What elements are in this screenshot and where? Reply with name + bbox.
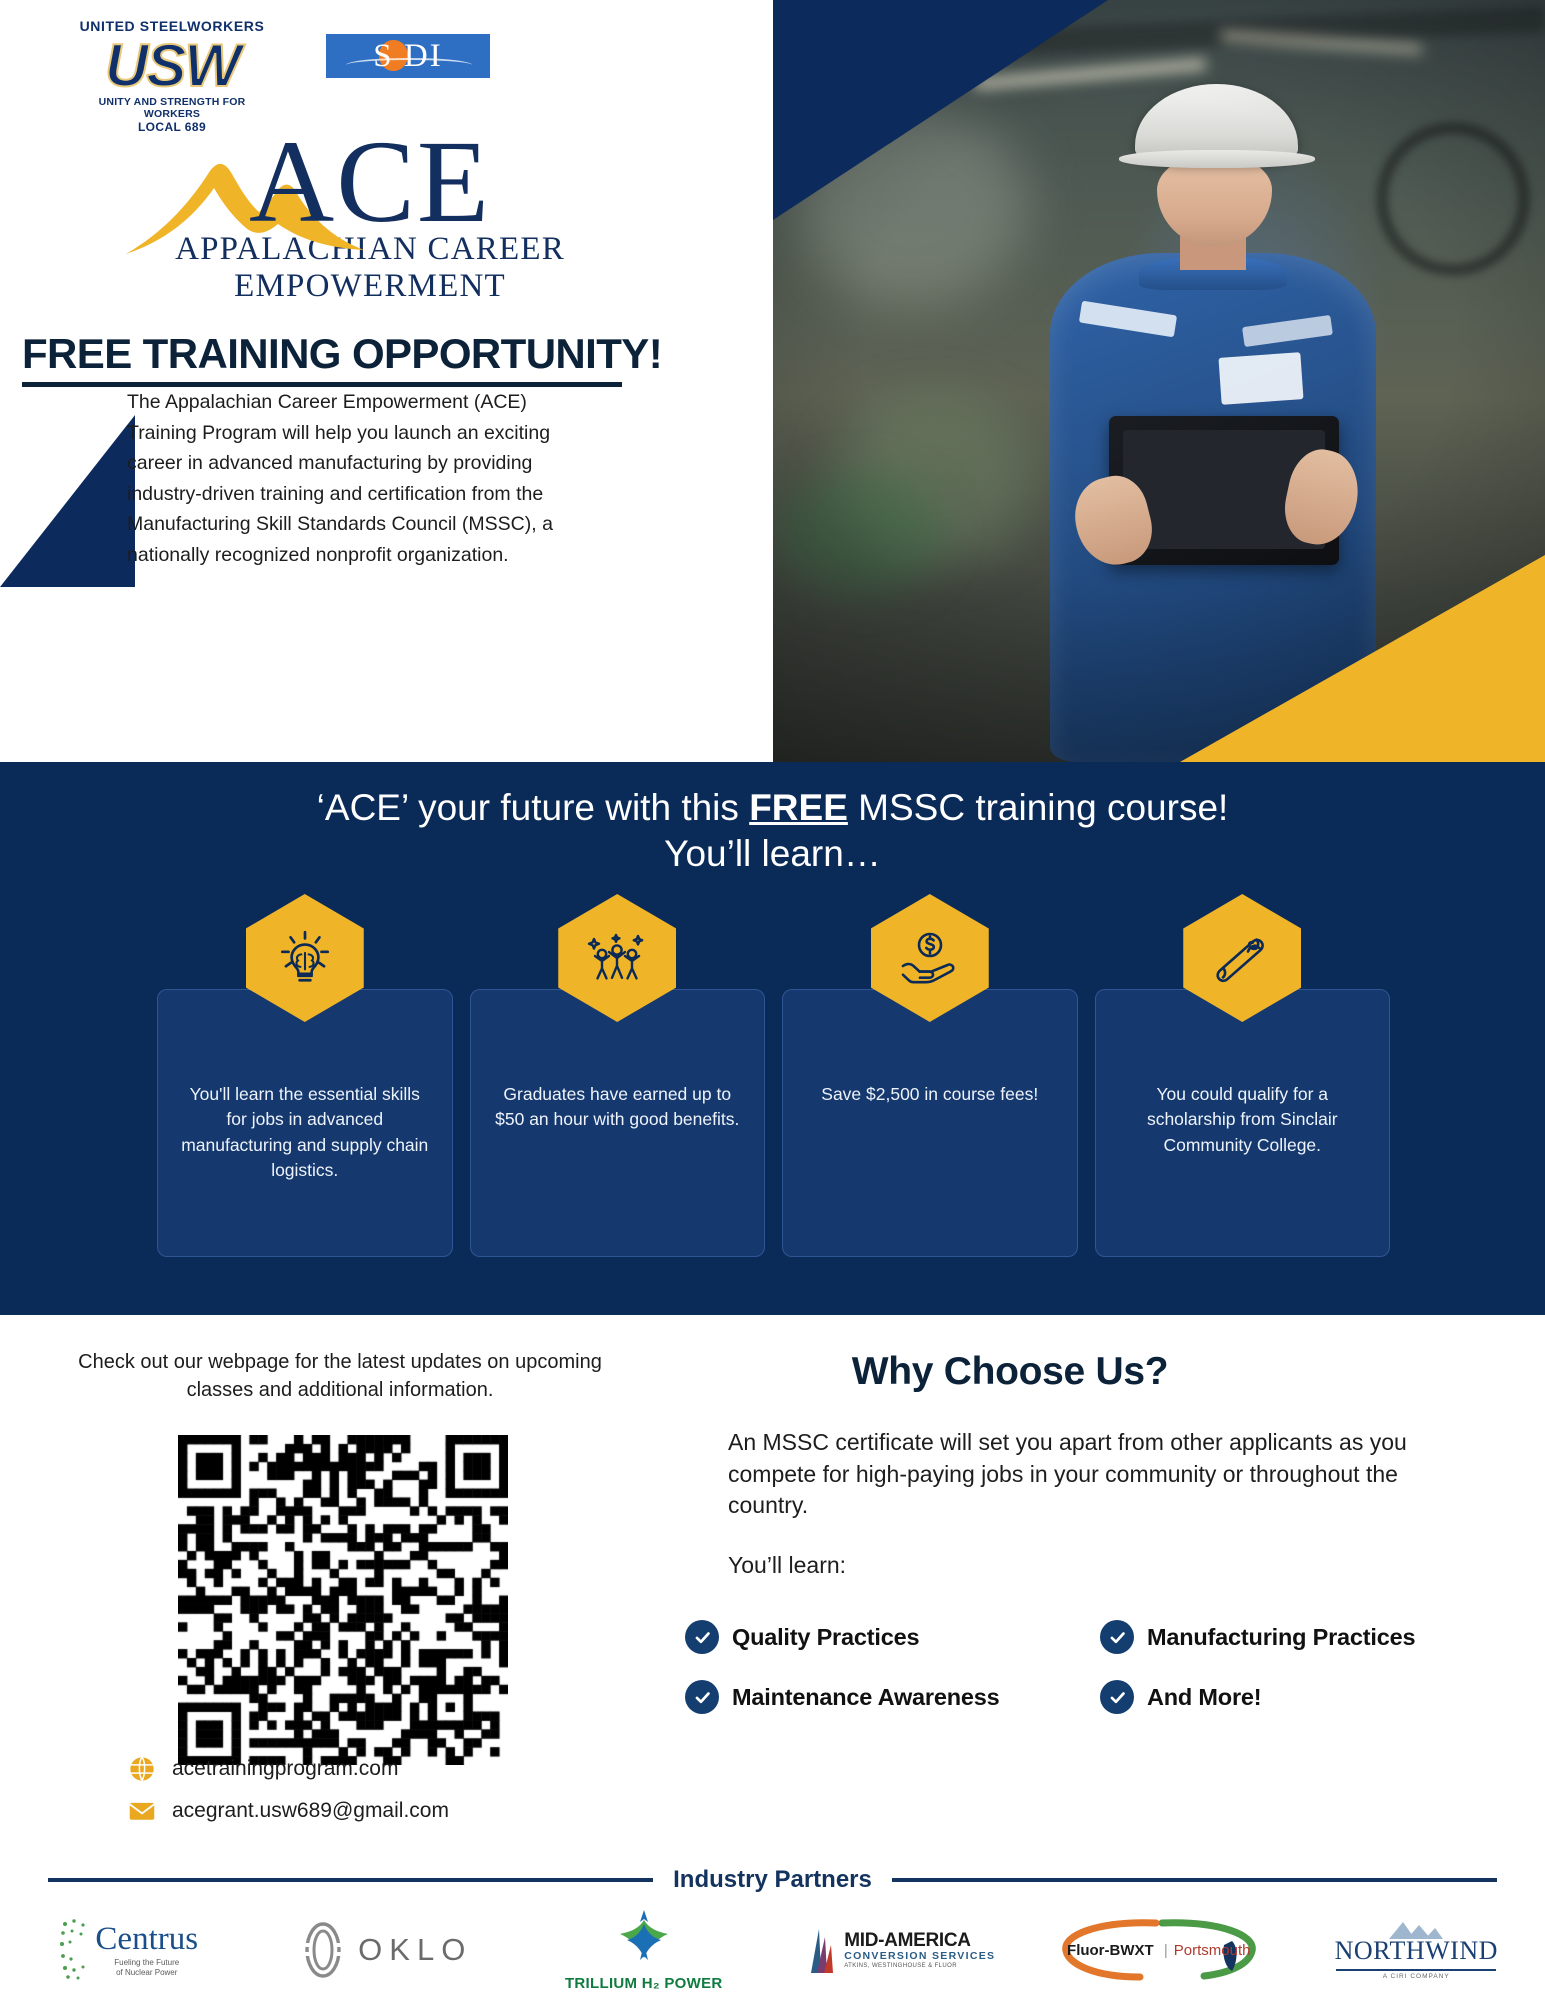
ace-logo: ACE APPALACHIAN CAREER EMPOWERMENT: [110, 128, 630, 304]
centrus-tagline-1: Fueling the Future: [95, 1958, 198, 1968]
navy-wedge-accent: [0, 415, 135, 587]
contact-list: acetrainingprogram.com acegrant.usw689@g…: [128, 1755, 449, 1839]
centrus-wordmark: Centrus: [95, 1923, 198, 1956]
benefit-card: Save $2,500 in course fees!: [782, 989, 1078, 1257]
qr-code[interactable]: [178, 1435, 508, 1765]
benefit-card-text: Graduates have earned up to $50 an hour …: [491, 1082, 745, 1133]
youll-learn-label: You’ll learn:: [728, 1552, 846, 1579]
industry-partners-title: Industry Partners: [653, 1866, 892, 1894]
partner-logos: Centrus Fueling the Future of Nuclear Po…: [0, 1900, 1545, 2000]
divider-line-left: [48, 1878, 653, 1882]
partner-logo-centrus: Centrus Fueling the Future of Nuclear Po…: [0, 1918, 258, 1982]
oklo-wordmark: OKLO: [358, 1932, 472, 1968]
benefit-card-text: You could qualify for a scholarship from…: [1116, 1082, 1370, 1158]
contact-row-email[interactable]: acegrant.usw689@gmail.com: [128, 1797, 449, 1825]
people-celebrating-icon: [558, 894, 676, 1022]
hero-section: UNITED STEELWORKERS USW UNITY AND STRENG…: [0, 0, 1545, 762]
skills-checklist: Quality Practices Manufacturing Practice…: [685, 1620, 1505, 1714]
hexagon-badge: [1183, 894, 1301, 1022]
checklist-item: And More!: [1100, 1680, 1505, 1714]
northwind-sub: A CIRI COMPANY: [1383, 1973, 1450, 1980]
benefit-cards: You'll learn the essential skills for jo…: [157, 989, 1390, 1257]
benefit-card: You'll learn the essential skills for jo…: [157, 989, 453, 1257]
centrus-tagline-2: of Nuclear Power: [95, 1968, 198, 1978]
checklist-label: Quality Practices: [732, 1624, 919, 1651]
hexagon-badge: [558, 894, 676, 1022]
northwind-rule: [1336, 1969, 1496, 1971]
checklist-label: And More!: [1147, 1684, 1261, 1711]
centrus-dots-icon: [59, 1918, 93, 1982]
band-headline-line2: You’ll learn…: [664, 833, 881, 874]
ace-subtitle-line2: EMPOWERMENT: [110, 268, 630, 305]
ace-acronym: ACE: [110, 128, 630, 237]
why-choose-us-body: An MSSC certificate will set you apart f…: [728, 1427, 1428, 1522]
trillium-wordmark: TRILLIUM H₂ POWER: [565, 1975, 723, 1992]
intro-paragraph: The Appalachian Career Empowerment (ACE)…: [127, 387, 577, 571]
mid-america-sub: CONVERSION SERVICES: [844, 1950, 995, 1964]
check-circle-icon: [1100, 1620, 1134, 1654]
check-circle-icon: [685, 1680, 719, 1714]
hexagon-badge: [246, 894, 364, 1022]
why-choose-us-title: Why Choose Us?: [700, 1350, 1320, 1394]
divider-line-right: [892, 1878, 1497, 1882]
email-text: acegrant.usw689@gmail.com: [172, 1799, 449, 1823]
webpage-note: Check out our webpage for the latest upd…: [60, 1348, 620, 1405]
band-headline-pre: ‘ACE’ your future with this: [317, 787, 750, 828]
benefit-card-text: Save $2,500 in course fees!: [803, 1082, 1057, 1107]
website-text: acetrainingprogram.com: [172, 1757, 398, 1781]
usw-logo: UNITED STEELWORKERS USW UNITY AND STRENG…: [72, 18, 272, 134]
benefit-card: Graduates have earned up to $50 an hour …: [470, 989, 766, 1257]
sodi-logo: S DI: [326, 34, 490, 78]
portsmouth-wordmark: Portsmouth: [1174, 1942, 1251, 1959]
checklist-label: Manufacturing Practices: [1147, 1624, 1415, 1651]
partner-logo-trillium: TRILLIUM H₂ POWER: [515, 1908, 773, 1992]
band-headline-post: MSSC training course!: [848, 787, 1228, 828]
sodi-swoosh-icon: [346, 58, 472, 72]
partner-logo-northwind: NORTHWIND A CIRI COMPANY: [1288, 1920, 1545, 1980]
band-headline: ‘ACE’ your future with this FREE MSSC tr…: [0, 785, 1545, 878]
oklo-mark-icon: [300, 1921, 346, 1979]
benefit-card-text: You'll learn the essential skills for jo…: [178, 1082, 432, 1184]
hexagon-badge: [871, 894, 989, 1022]
usw-slogan: UNITY AND STRENGTH FOR WORKERS: [72, 96, 272, 120]
lightbulb-brain-icon: [246, 894, 364, 1022]
checklist-item: Manufacturing Practices: [1100, 1620, 1505, 1654]
band-headline-free: FREE: [749, 787, 848, 828]
hand-holding-money-icon: [871, 894, 989, 1022]
free-training-headline: FREE TRAINING OPPORTUNITY!: [22, 330, 622, 387]
trillium-mark-icon: [614, 1908, 674, 1972]
benefit-card: You could qualify for a scholarship from…: [1095, 989, 1391, 1257]
northwind-wordmark: NORTHWIND: [1335, 1936, 1498, 1966]
mid-america-fine: ATKINS, WESTINGHOUSE & FLUOR: [844, 1963, 995, 1969]
globe-icon: [128, 1755, 156, 1783]
diploma-scroll-icon: [1183, 894, 1301, 1022]
contact-row-website[interactable]: acetrainingprogram.com: [128, 1755, 449, 1783]
checklist-item: Quality Practices: [685, 1620, 1090, 1654]
flyer-page: UNITED STEELWORKERS USW UNITY AND STRENG…: [0, 0, 1545, 2000]
mid-america-mark-icon: [807, 1927, 837, 1973]
checklist-item: Maintenance Awareness: [685, 1680, 1090, 1714]
usw-wordmark: USW: [72, 37, 272, 94]
checklist-label: Maintenance Awareness: [732, 1684, 999, 1711]
partner-logo-mid-america: MID-AMERICA CONVERSION SERVICES ATKINS, …: [773, 1927, 1031, 1973]
check-circle-icon: [685, 1620, 719, 1654]
industry-partners-divider: Industry Partners: [0, 1860, 1545, 1900]
fluor-wordmark: Fluor-BWXT: [1067, 1942, 1154, 1959]
check-circle-icon: [1100, 1680, 1134, 1714]
envelope-icon: [128, 1797, 156, 1825]
partner-logo-fluor-bwxt: Fluor-BWXT |Portsmouth: [1030, 1917, 1288, 1983]
mid-america-wordmark: MID-AMERICA: [844, 1931, 995, 1950]
benefits-band: ‘ACE’ your future with this FREE MSSC tr…: [0, 762, 1545, 1315]
partner-logo-oklo: OKLO: [258, 1921, 516, 1979]
